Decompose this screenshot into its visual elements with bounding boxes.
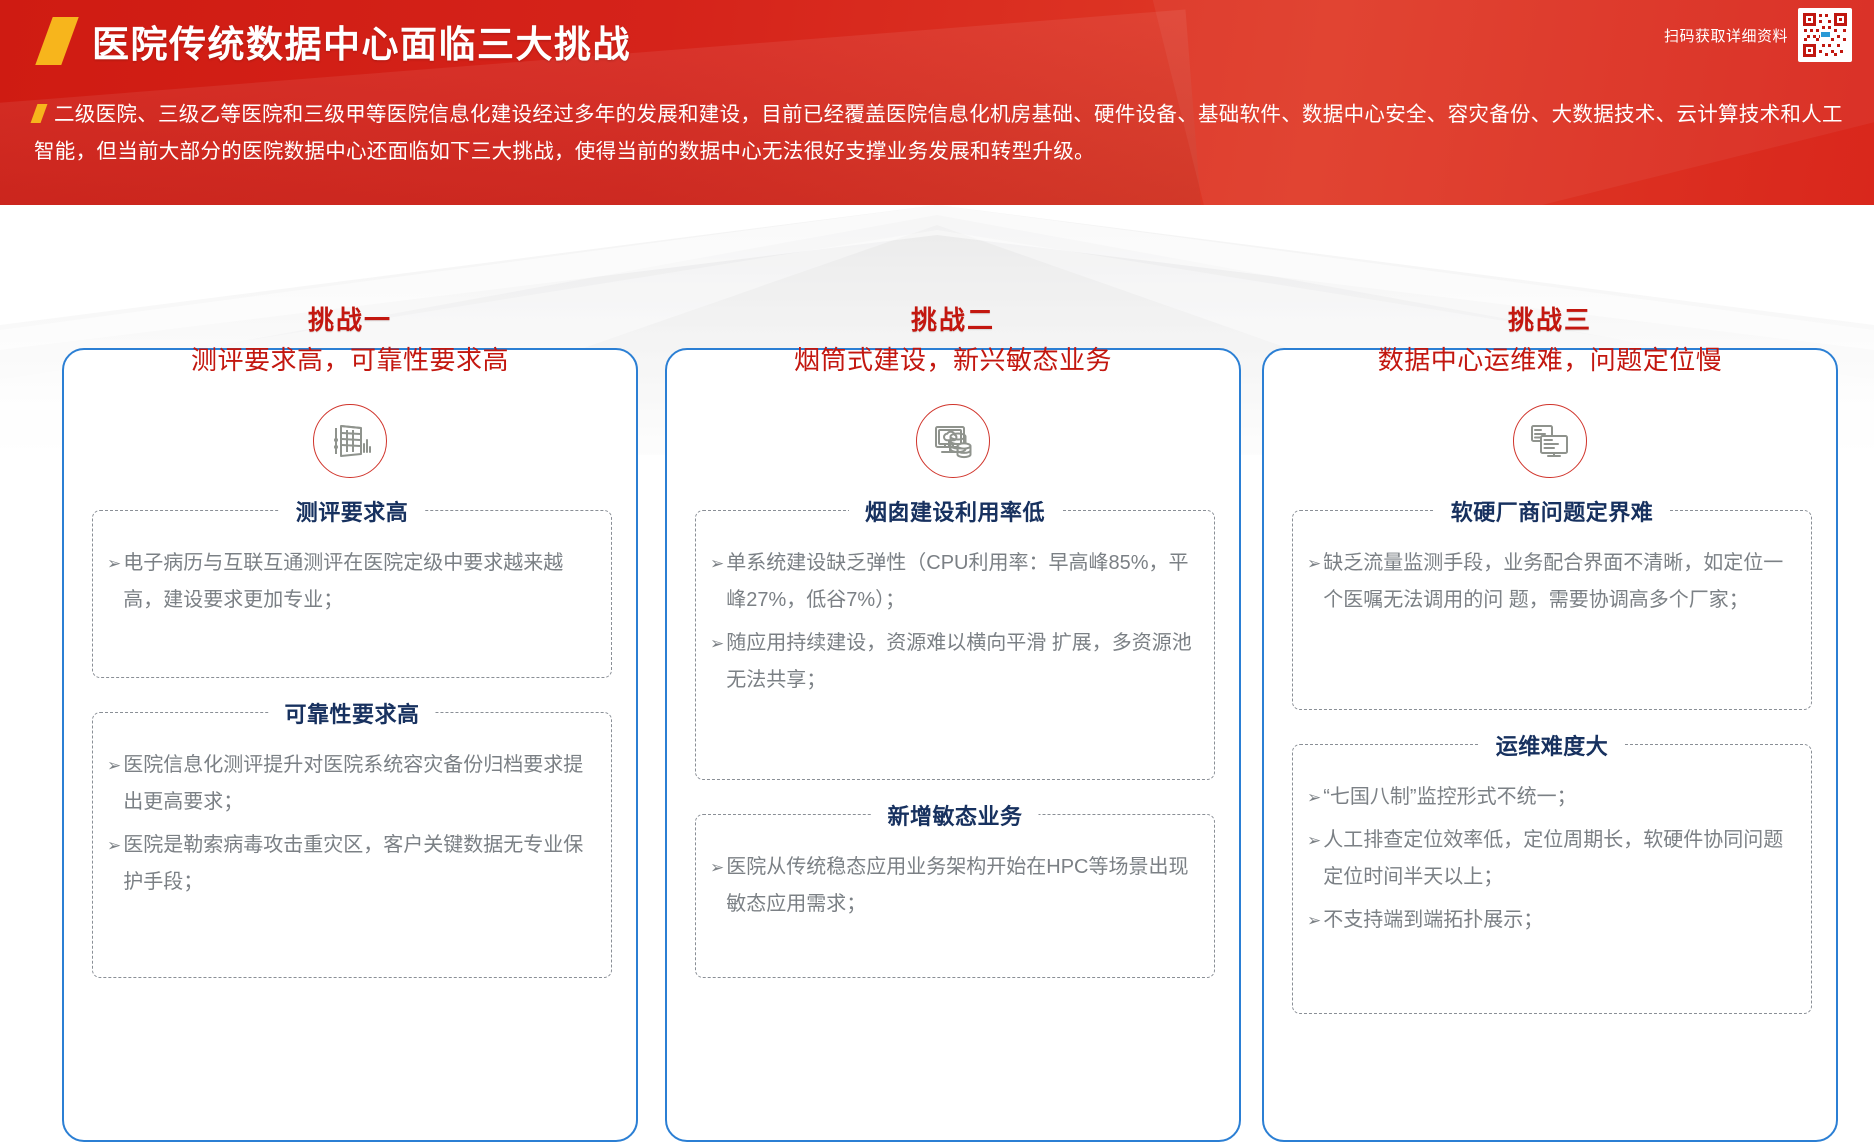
challenge-2-box-2: 新增敏态业务 ➢ 医院从传统稳态应用业务架构开始在HPC等场景出现敏态应用需求； <box>695 814 1215 978</box>
challenge-column-1: 挑战一 测评要求高，可靠性要求高 <box>62 300 638 377</box>
list-item-text: “七国八制”监控形式不统一； <box>1323 779 1791 816</box>
challenge-1-box-2: 可靠性要求高 ➢ 医院信息化测评提升对医院系统容灾备份归档要求提出更高要求； ➢… <box>92 712 612 978</box>
list-item: ➢ 随应用持续建设，资源难以横向平滑 扩展，多资源池无法共享； <box>710 625 1194 699</box>
title-row: 医院传统数据中心面临三大挑战 <box>44 14 631 68</box>
list-item-text: 人工排查定位效率低，定位周期长，软硬件协同问题定位时间半天以上； <box>1323 822 1791 896</box>
list-item: ➢ 医院信息化测评提升对医院系统容灾备份归档要求提出更高要求； <box>107 747 591 821</box>
page-title: 医院传统数据中心面临三大挑战 <box>92 14 631 68</box>
list-item-text: 缺乏流量监测手段，业务配合界面不清晰，如定位一个医嘱无法调用的问 题，需要协调高… <box>1323 545 1791 619</box>
list-item: ➢ 缺乏流量监测手段，业务配合界面不清晰，如定位一个医嘱无法调用的问 题，需要协… <box>1307 545 1791 619</box>
yellow-slash-small-icon <box>31 104 48 123</box>
list-item: ➢ 医院从传统稳态应用业务架构开始在HPC等场景出现敏态应用需求； <box>710 849 1194 923</box>
box-body: ➢ 医院从传统稳态应用业务架构开始在HPC等场景出现敏态应用需求； <box>696 815 1214 945</box>
arrow-bullet-icon: ➢ <box>107 827 121 864</box>
qr-label: 扫码获取详细资料 <box>1664 25 1788 46</box>
list-item-text: 医院是勒索病毒攻击重灾区，客户关键数据无专业保护手段； <box>123 827 591 901</box>
challenge-2-subtitle: 烟筒式建设，新兴敏态业务 <box>665 340 1241 377</box>
box-title: 烟囱建设利用率低 <box>849 495 1061 527</box>
qr-section[interactable]: 扫码获取详细资料 <box>1664 8 1852 62</box>
challenge-3-box-1: 软硬厂商问题定界难 ➢ 缺乏流量监测手段，业务配合界面不清晰，如定位一个医嘱无法… <box>1292 510 1812 710</box>
cloud-database-monitor-icon <box>916 404 990 478</box>
box-title: 可靠性要求高 <box>268 697 435 729</box>
challenge-column-2: 挑战二 烟筒式建设，新兴敏态业务 <box>665 300 1241 377</box>
server-rack-icon <box>313 404 387 478</box>
box-body: ➢ 电子病历与互联互通测评在医院定级中要求越来越高，建设要求更加专业； <box>93 511 611 641</box>
arrow-bullet-icon: ➢ <box>710 625 724 662</box>
box-body: ➢ 单系统建设缺乏弹性（CPU利用率：早高峰85%，平峰27%，低谷7%）； ➢… <box>696 511 1214 721</box>
challenges-container: 挑战一 测评要求高，可靠性要求高 <box>0 300 1874 1142</box>
challenge-3-subtitle: 数据中心运维难，问题定位慢 <box>1262 340 1838 377</box>
list-item-text: 电子病历与互联互通测评在医院定级中要求越来越高，建设要求更加专业； <box>123 545 591 619</box>
intro-paragraph: 二级医院、三级乙等医院和三级甲等医院信息化建设经过多年的发展和建设，目前已经覆盖… <box>34 96 1844 170</box>
arrow-bullet-icon: ➢ <box>1307 779 1321 816</box>
challenge-1-header: 挑战一 测评要求高，可靠性要求高 <box>62 300 638 377</box>
list-item: ➢ 医院是勒索病毒攻击重灾区，客户关键数据无专业保护手段； <box>107 827 591 901</box>
list-item: ➢ 不支持端到端拓扑展示； <box>1307 902 1791 939</box>
page-header: 医院传统数据中心面临三大挑战 扫码获取详细资料 <box>0 0 1874 205</box>
arrow-bullet-icon: ➢ <box>1307 822 1321 859</box>
challenge-3-card: 软硬厂商问题定界难 ➢ 缺乏流量监测手段，业务配合界面不清晰，如定位一个医嘱无法… <box>1262 348 1838 1142</box>
box-title: 运维难度大 <box>1480 729 1625 761</box>
arrow-bullet-icon: ➢ <box>710 849 724 886</box>
challenge-2-box-1: 烟囱建设利用率低 ➢ 单系统建设缺乏弹性（CPU利用率：早高峰85%，平峰27%… <box>695 510 1215 780</box>
challenge-1-card: 测评要求高 ➢ 电子病历与互联互通测评在医院定级中要求越来越高，建设要求更加专业… <box>62 348 638 1142</box>
list-item: ➢ “七国八制”监控形式不统一； <box>1307 779 1791 816</box>
challenge-1-number: 挑战一 <box>62 300 638 337</box>
list-item-text: 单系统建设缺乏弹性（CPU利用率：早高峰85%，平峰27%，低谷7%）； <box>726 545 1194 619</box>
challenge-3-box-2: 运维难度大 ➢ “七国八制”监控形式不统一； ➢ 人工排查定位效率低，定位周期长… <box>1292 744 1812 1014</box>
qr-code-icon[interactable] <box>1798 8 1852 62</box>
list-item-text: 医院从传统稳态应用业务架构开始在HPC等场景出现敏态应用需求； <box>726 849 1194 923</box>
challenge-3-header: 挑战三 数据中心运维难，问题定位慢 <box>1262 300 1838 377</box>
list-item: ➢ 人工排查定位效率低，定位周期长，软硬件协同问题定位时间半天以上； <box>1307 822 1791 896</box>
list-item: ➢ 电子病历与互联互通测评在医院定级中要求越来越高，建设要求更加专业； <box>107 545 591 619</box>
box-body: ➢ “七国八制”监控形式不统一； ➢ 人工排查定位效率低，定位周期长，软硬件协同… <box>1293 745 1811 961</box>
box-title: 软硬厂商问题定界难 <box>1435 495 1670 527</box>
list-item-text: 医院信息化测评提升对医院系统容灾备份归档要求提出更高要求； <box>123 747 591 821</box>
intro-text: 二级医院、三级乙等医院和三级甲等医院信息化建设经过多年的发展和建设，目前已经覆盖… <box>34 103 1843 163</box>
challenge-column-3: 挑战三 数据中心运维难，问题定位慢 软硬厂商问题定界难 <box>1262 300 1838 377</box>
challenge-2-header: 挑战二 烟筒式建设，新兴敏态业务 <box>665 300 1241 377</box>
arrow-bullet-icon: ➢ <box>1307 902 1321 939</box>
challenge-2-number: 挑战二 <box>665 300 1241 337</box>
box-body: ➢ 医院信息化测评提升对医院系统容灾备份归档要求提出更高要求； ➢ 医院是勒索病… <box>93 713 611 923</box>
arrow-bullet-icon: ➢ <box>107 545 121 582</box>
challenge-3-number: 挑战三 <box>1262 300 1838 337</box>
challenge-1-subtitle: 测评要求高，可靠性要求高 <box>62 340 638 377</box>
list-item-text: 随应用持续建设，资源难以横向平滑 扩展，多资源池无法共享； <box>726 625 1194 699</box>
yellow-slash-icon <box>35 17 78 65</box>
arrow-bullet-icon: ➢ <box>710 545 724 582</box>
challenge-1-box-1: 测评要求高 ➢ 电子病历与互联互通测评在医院定级中要求越来越高，建设要求更加专业… <box>92 510 612 678</box>
box-title: 测评要求高 <box>280 495 425 527</box>
challenge-2-card: 烟囱建设利用率低 ➢ 单系统建设缺乏弹性（CPU利用率：早高峰85%，平峰27%… <box>665 348 1241 1142</box>
list-item-text: 不支持端到端拓扑展示； <box>1323 902 1791 939</box>
arrow-bullet-icon: ➢ <box>1307 545 1321 582</box>
list-item: ➢ 单系统建设缺乏弹性（CPU利用率：早高峰85%，平峰27%，低谷7%）； <box>710 545 1194 619</box>
monitor-devices-icon <box>1513 404 1587 478</box>
box-body: ➢ 缺乏流量监测手段，业务配合界面不清晰，如定位一个医嘱无法调用的问 题，需要协… <box>1293 511 1811 641</box>
arrow-bullet-icon: ➢ <box>107 747 121 784</box>
box-title: 新增敏态业务 <box>871 799 1038 831</box>
